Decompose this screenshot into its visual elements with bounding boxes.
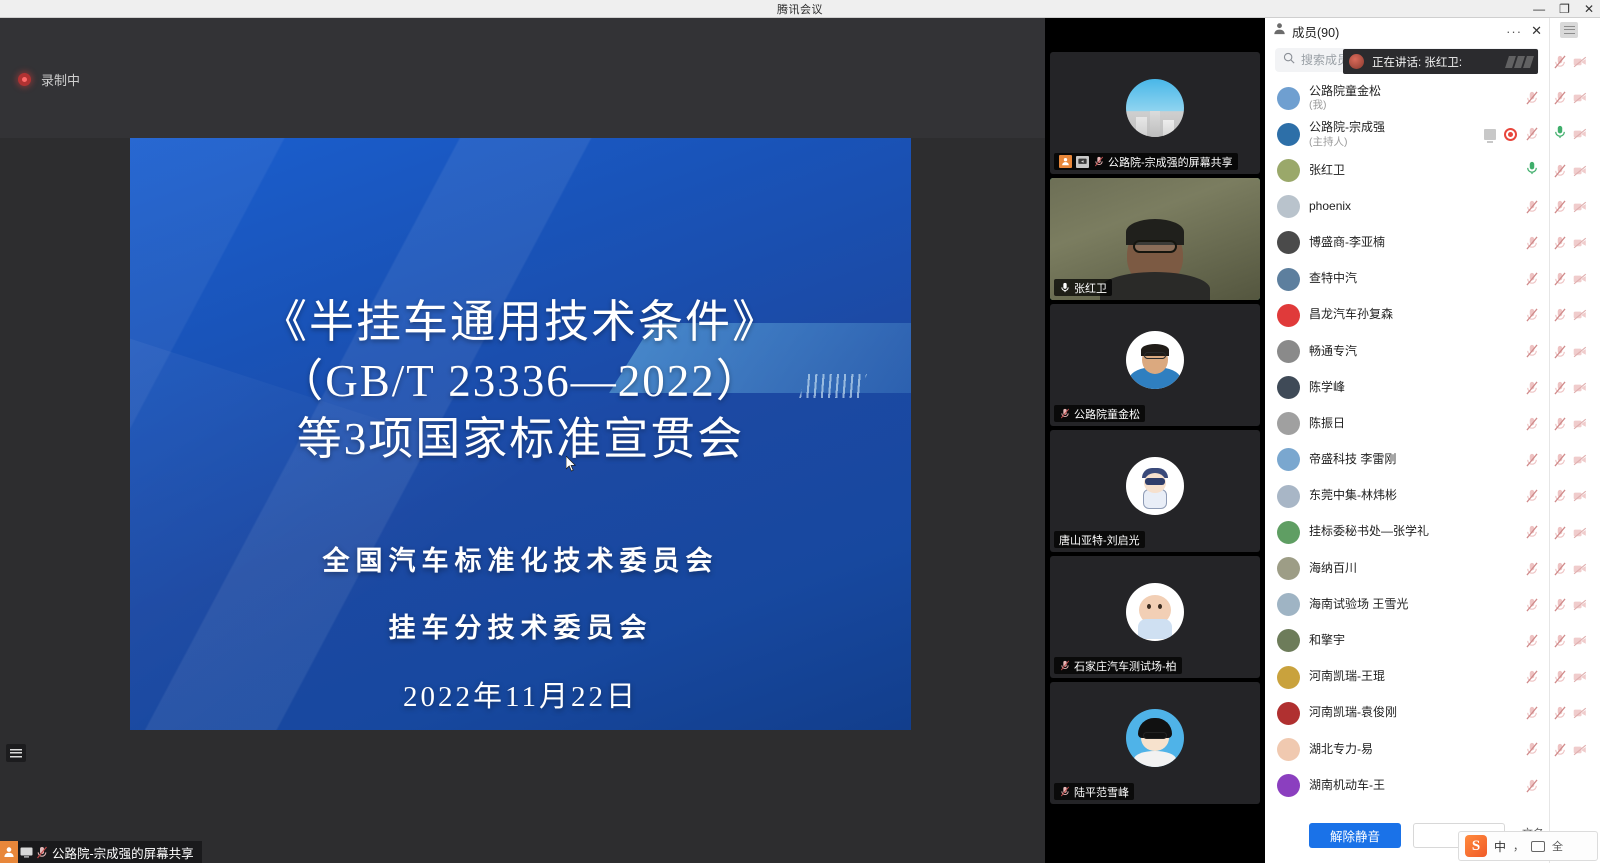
camera-off-icon[interactable] [1573, 236, 1587, 250]
mic-muted-icon[interactable] [1525, 308, 1539, 322]
participant-row[interactable]: phoenix [1265, 189, 1549, 225]
participant-icons [1525, 706, 1539, 720]
mic-muted-icon[interactable] [1525, 453, 1539, 467]
participant-icons [1525, 381, 1539, 395]
window-controls: — ❐ ✕ [1533, 0, 1594, 18]
camera-off-icon[interactable] [1573, 381, 1587, 395]
thumbnail-namebar: 唐山亚特-刘启光 [1054, 531, 1145, 548]
mic-muted-icon[interactable] [1553, 91, 1567, 105]
mic-muted-icon[interactable] [1553, 236, 1567, 250]
rail-row [1550, 189, 1600, 225]
camera-off-icon[interactable] [1573, 127, 1587, 141]
participants-list[interactable]: 公路院童金松(我)公路院-宗成强(主持人)张红卫phoenix博盛商-李亚楠查特… [1265, 78, 1549, 823]
thumbnail-tile[interactable]: 陆平范雪峰 [1050, 682, 1260, 804]
participant-icons [1525, 670, 1539, 684]
mic-muted-icon [1059, 408, 1070, 419]
participant-row[interactable]: 公路院童金松(我) [1265, 80, 1549, 116]
mic-on-icon[interactable] [1525, 161, 1539, 180]
mic-muted-icon[interactable] [1553, 345, 1567, 359]
rail-row [1550, 623, 1600, 659]
mic-muted-icon[interactable] [1553, 634, 1567, 648]
mic-muted-icon[interactable] [1553, 308, 1567, 322]
unmute-button[interactable]: 解除静音 [1309, 823, 1401, 848]
mic-muted-icon[interactable] [1525, 742, 1539, 756]
participant-name: 公路院-宗成强 [1309, 121, 1385, 135]
participant-icons [1525, 525, 1539, 539]
recording-bar [0, 18, 1045, 138]
avatar [1277, 231, 1300, 254]
slide-title-line1: 《半挂车通用技术条件》 [130, 293, 911, 352]
close-icon[interactable]: ✕ [1584, 3, 1594, 15]
thumbnail-label: 唐山亚特-刘启光 [1059, 532, 1140, 548]
participant-row[interactable]: 帝盛科技 李雷刚 [1265, 442, 1549, 478]
thumbnail-namebar: 张红卫 [1054, 279, 1112, 296]
rail-row [1550, 297, 1600, 333]
avatar [1277, 448, 1300, 471]
slide-title-line2: （GB/T 23336—2022） [130, 352, 911, 411]
mic-muted-icon[interactable] [1553, 164, 1567, 178]
avatar [1126, 457, 1184, 515]
participant-icons [1525, 634, 1539, 648]
participant-row[interactable]: 和擎宇 [1265, 623, 1549, 659]
avatar [1277, 629, 1300, 652]
thumbnail-namebar: 石家庄汽车测试场-柏 [1054, 657, 1182, 674]
participant-name: 湖南机动车-王 [1309, 779, 1385, 793]
share-user-icon [1059, 155, 1072, 168]
participant-name: 昌龙汽车孙复森 [1309, 308, 1393, 322]
participant-name: 东莞中集-林炜彬 [1309, 489, 1397, 503]
shared-slide[interactable]: 《半挂车通用技术条件》 （GB/T 23336—2022） 等3项国家标准宣贯会… [130, 138, 911, 730]
participant-icons [1525, 308, 1539, 322]
share-screen-icon [18, 841, 34, 863]
share-taskbar[interactable]: 公路院-宗成强的屏幕共享 [0, 841, 202, 863]
mic-muted-icon[interactable] [1525, 634, 1539, 648]
mic-on-icon[interactable] [1553, 125, 1567, 144]
participant-row[interactable]: 张红卫 [1265, 152, 1549, 188]
search-icon [1283, 51, 1295, 69]
speaking-notice: 正在讲话: 张红卫: [1343, 49, 1538, 74]
sogou-logo-icon: S [1465, 835, 1487, 857]
participant-icons [1525, 598, 1539, 612]
participant-name-block: 海纳百川 [1309, 562, 1357, 576]
camera-off-icon[interactable] [1573, 308, 1587, 322]
participant-role: (我) [1309, 99, 1381, 111]
camera-off-icon[interactable] [1573, 345, 1587, 359]
thumbnail-label: 公路院-宗成强的屏幕共享 [1108, 154, 1233, 170]
mic-muted-icon[interactable] [1525, 562, 1539, 576]
participant-row[interactable]: 查特中汽 [1265, 261, 1549, 297]
participant-row[interactable]: 公路院-宗成强(主持人) [1265, 116, 1549, 152]
participant-icons [1525, 272, 1539, 286]
thumbnail-namebar: 陆平范雪峰 [1054, 783, 1134, 800]
rail-row [1550, 406, 1600, 442]
mic-muted-icon[interactable] [1553, 670, 1567, 684]
more-options-icon[interactable]: ··· [1506, 24, 1522, 39]
screen-share-icon [1076, 156, 1089, 168]
rail-row [1550, 695, 1600, 731]
mic-muted-icon[interactable] [1553, 417, 1567, 431]
mic-muted-icon[interactable] [1525, 598, 1539, 612]
participant-icons [1525, 417, 1539, 431]
participant-row[interactable]: 畅通专汽 [1265, 333, 1549, 369]
avatar [1277, 123, 1300, 146]
avatar [1277, 521, 1300, 544]
rail-row [1550, 334, 1600, 370]
camera-off-icon[interactable] [1573, 706, 1587, 720]
slide-subtitle-line2: 挂车分技术委员会 [130, 606, 911, 645]
rail-row [1550, 478, 1600, 514]
recording-label: 录制中 [41, 70, 80, 89]
participant-row[interactable]: 陈学峰 [1265, 370, 1549, 406]
participant-row[interactable]: 海南试验场 王雪光 [1265, 587, 1549, 623]
camera-off-icon[interactable] [1573, 453, 1587, 467]
mic-muted-icon[interactable] [1553, 272, 1567, 286]
participant-name: 海纳百川 [1309, 562, 1357, 576]
participant-name: 海南试验场 王雪光 [1309, 598, 1408, 612]
rail-row [1550, 80, 1600, 116]
participant-row[interactable]: 湖北专力-易 [1265, 731, 1549, 767]
avatar [1277, 702, 1300, 725]
participant-row[interactable]: 海纳百川 [1265, 550, 1549, 586]
mic-muted-icon[interactable] [1525, 670, 1539, 684]
participant-icons [1525, 344, 1539, 358]
meeting-stage: 录制中 《半挂车通用技术条件》 （GB/T 23336—2022） 等3项国家标… [0, 18, 1045, 863]
thumbnail-tile[interactable]: 唐山亚特-刘启光 [1050, 430, 1260, 552]
rail-row [1550, 551, 1600, 587]
slide-content: 《半挂车通用技术条件》 （GB/T 23336—2022） 等3项国家标准宣贯会… [130, 138, 911, 715]
participant-role: (主持人) [1309, 136, 1385, 148]
thumbnail-label: 公路院童金松 [1074, 406, 1140, 422]
avatar [1126, 709, 1184, 767]
mic-muted-icon[interactable] [1525, 381, 1539, 395]
participant-name-block: 东莞中集-林炜彬 [1309, 489, 1397, 503]
avatar [1126, 79, 1184, 137]
participant-name-block: 畅通专汽 [1309, 345, 1357, 359]
participant-name: 查特中汽 [1309, 272, 1357, 286]
avatar [1277, 304, 1300, 327]
camera-off-icon[interactable] [1573, 634, 1587, 648]
mic-muted-icon[interactable] [1553, 706, 1567, 720]
mic-muted-icon[interactable] [1525, 779, 1539, 793]
camera-off-icon[interactable] [1573, 164, 1587, 178]
rail-row [1550, 370, 1600, 406]
participant-name: 陈振日 [1309, 417, 1345, 431]
rail-row [1550, 587, 1600, 623]
participant-name-block: 挂标委秘书处—张学礼 [1309, 525, 1429, 539]
camera-off-icon[interactable] [1573, 417, 1587, 431]
panel-close-icon[interactable]: ✕ [1531, 23, 1542, 39]
recording-indicator: 录制中 [18, 70, 80, 89]
mic-muted-icon[interactable] [1525, 489, 1539, 503]
participant-icons [1484, 127, 1539, 141]
mic-muted-icon[interactable] [1525, 344, 1539, 358]
participant-name-block: 昌龙汽车孙复森 [1309, 308, 1393, 322]
participant-icons [1525, 779, 1539, 793]
participant-row[interactable]: 湖南机动车-王 [1265, 768, 1549, 804]
avatar [1126, 583, 1184, 641]
thumbnail-tile[interactable]: 张红卫 [1050, 178, 1260, 300]
participant-row[interactable]: 东莞中集-林炜彬 [1265, 478, 1549, 514]
mic-muted-icon[interactable] [1525, 525, 1539, 539]
camera-off-icon[interactable] [1573, 670, 1587, 684]
participant-icons [1525, 161, 1539, 180]
speaker-avatar [1349, 54, 1364, 69]
participant-name: 博盛商-李亚楠 [1309, 236, 1385, 250]
thumbnail-label: 陆平范雪峰 [1074, 784, 1129, 800]
mic-on-icon [1059, 282, 1070, 293]
slide-list-toggle-button[interactable] [6, 744, 26, 762]
window-titlebar: 腾讯会议 — ❐ ✕ [0, 0, 1600, 18]
camera-off-icon[interactable] [1573, 526, 1587, 540]
participant-name-block: 河南凯瑞-袁俊刚 [1309, 706, 1397, 720]
thumbnail-tile[interactable]: 公路院童金松 [1050, 304, 1260, 426]
camera-off-icon[interactable] [1573, 272, 1587, 286]
camera-off-icon[interactable] [1573, 200, 1587, 214]
thumbnail-tile[interactable]: 公路院-宗成强的屏幕共享 [1050, 52, 1260, 174]
participant-name: 公路院童金松 [1309, 85, 1381, 99]
participant-row[interactable]: 挂标委秘书处—张学礼 [1265, 514, 1549, 550]
participant-name-block: 海南试验场 王雪光 [1309, 598, 1408, 612]
participant-name-block: 帝盛科技 李雷刚 [1309, 453, 1396, 467]
thumbnail-label: 石家庄汽车测试场-柏 [1074, 658, 1177, 674]
panel-header-actions: ··· ✕ [1506, 18, 1542, 44]
rail-icon-column [1550, 44, 1600, 768]
participant-icons [1525, 489, 1539, 503]
camera-off-icon[interactable] [1573, 743, 1587, 757]
mic-muted-icon [1059, 786, 1070, 797]
rail-row [1550, 153, 1600, 189]
record-dot-icon [18, 73, 31, 86]
participant-name: 帝盛科技 李雷刚 [1309, 453, 1396, 467]
participant-row[interactable]: 博盛商-李亚楠 [1265, 225, 1549, 261]
ime-extra-icon[interactable]: 全 [1552, 838, 1563, 854]
avatar [1277, 774, 1300, 797]
participant-name-block: 湖北专力-易 [1309, 743, 1373, 757]
avatar [1277, 557, 1300, 580]
participant-name: 畅通专汽 [1309, 345, 1357, 359]
ime-mode-label[interactable]: 中 [1494, 838, 1506, 855]
participant-name-block: 张红卫 [1309, 164, 1345, 178]
mouse-cursor-icon [566, 456, 576, 472]
slide-title-line3: 等3项国家标准宣贯会 [130, 410, 911, 469]
camera-off-icon[interactable] [1573, 598, 1587, 612]
members-icon [1273, 22, 1286, 40]
avatar [1277, 195, 1300, 218]
participant-name-block: phoenix [1309, 200, 1351, 214]
participant-name-block: 陈振日 [1309, 417, 1345, 431]
participant-name: 挂标委秘书处—张学礼 [1309, 525, 1429, 539]
participant-row[interactable]: 昌龙汽车孙复森 [1265, 297, 1549, 333]
recording-icon [1504, 128, 1517, 141]
mic-muted-icon[interactable] [1553, 200, 1567, 214]
window-title: 腾讯会议 [777, 1, 823, 17]
minimize-icon[interactable]: — [1533, 3, 1545, 15]
tencent-meeting-window: 腾讯会议 — ❐ ✕ 录制中 《半挂车通用技术条件》 （GB/T 23336—2… [0, 0, 1600, 863]
rail-row [1550, 442, 1600, 478]
share-user-icon [0, 841, 18, 863]
participant-row[interactable]: 河南凯瑞-王琨 [1265, 659, 1549, 695]
mic-muted-icon[interactable] [1525, 417, 1539, 431]
participant-icons [1525, 453, 1539, 467]
participant-name-block: 查特中汽 [1309, 272, 1357, 286]
participant-name-block: 湖南机动车-王 [1309, 779, 1385, 793]
mic-muted-icon[interactable] [1553, 381, 1567, 395]
avatar [1277, 593, 1300, 616]
participant-name: 湖北专力-易 [1309, 743, 1373, 757]
mic-muted-icon[interactable] [1553, 453, 1567, 467]
mic-muted-icon [1059, 660, 1070, 671]
rail-row [1550, 659, 1600, 695]
participant-name-block: 博盛商-李亚楠 [1309, 236, 1385, 250]
mic-muted-icon [1093, 156, 1104, 167]
participant-icons [1525, 742, 1539, 756]
participants-title: 成员(90) [1292, 22, 1339, 41]
rail-row [1550, 116, 1600, 152]
mic-muted-icon[interactable] [1553, 562, 1567, 576]
maximize-icon[interactable]: ❐ [1559, 3, 1570, 15]
participants-panel: 成员(90) ··· ✕ 正在讲话: 张红卫: 公路院童金松(我)公路院-宗成强… [1265, 18, 1549, 863]
thumbnail-label: 张红卫 [1074, 280, 1107, 296]
participant-name: 陈学峰 [1309, 381, 1345, 395]
participant-name-block: 公路院-宗成强(主持人) [1309, 121, 1385, 148]
right-rail [1549, 18, 1600, 863]
mic-muted-icon[interactable] [1525, 127, 1539, 141]
camera-off-icon[interactable] [1573, 91, 1587, 105]
speaking-notice-label: 正在讲话: 张红卫: [1372, 54, 1462, 70]
avatar [1277, 340, 1300, 363]
mic-muted-icon[interactable] [1553, 743, 1567, 757]
avatar [1277, 268, 1300, 291]
rail-row [1550, 732, 1600, 768]
mic-muted-icon[interactable] [1553, 598, 1567, 612]
share-mic-muted-icon [34, 841, 50, 863]
avatar [1277, 87, 1300, 110]
avatar [1277, 666, 1300, 689]
rail-row [1550, 261, 1600, 297]
thumbnail-namebar: 公路院童金松 [1054, 405, 1145, 422]
participant-row[interactable]: 河南凯瑞-袁俊刚 [1265, 695, 1549, 731]
mic-muted-icon[interactable] [1525, 272, 1539, 286]
ime-keyboard-icon[interactable] [1531, 841, 1545, 852]
ime-punctuation-icon[interactable]: ， [1513, 838, 1524, 854]
camera-off-icon[interactable] [1573, 489, 1587, 503]
avatar [1277, 738, 1300, 761]
avatar [1277, 485, 1300, 508]
avatar [1277, 412, 1300, 435]
participant-icons [1525, 91, 1539, 105]
mic-muted-icon[interactable] [1525, 706, 1539, 720]
participant-icons [1525, 236, 1539, 250]
participant-name-block: 河南凯瑞-王琨 [1309, 670, 1385, 684]
avatar [1277, 376, 1300, 399]
mic-muted-icon[interactable] [1553, 526, 1567, 540]
mic-muted-icon[interactable] [1525, 200, 1539, 214]
thumbnail-tile[interactable]: 石家庄汽车测试场-柏 [1050, 556, 1260, 678]
participant-name: 河南凯瑞-王琨 [1309, 670, 1385, 684]
rail-row [1550, 225, 1600, 261]
video-thumbnail-strip[interactable]: 公路院-宗成强的屏幕共享 张红卫 公路院童金松 [1045, 18, 1265, 863]
camera-off-icon[interactable] [1573, 55, 1587, 69]
screen-share-icon [1484, 129, 1496, 140]
participant-name-block: 公路院童金松(我) [1309, 85, 1381, 112]
audio-level-icon [1507, 56, 1532, 68]
participant-name: 和擎宇 [1309, 634, 1345, 648]
camera-off-icon[interactable] [1573, 562, 1587, 576]
mic-muted-icon[interactable] [1525, 236, 1539, 250]
slide-subtitle-line1: 全国汽车标准化技术委员会 [130, 539, 911, 578]
share-taskbar-label: 公路院-宗成强的屏幕共享 [52, 843, 194, 862]
panel-grip-icon[interactable] [1560, 22, 1578, 38]
participant-row[interactable]: 陈振日 [1265, 406, 1549, 442]
participant-name-block: 陈学峰 [1309, 381, 1345, 395]
rail-row [1550, 514, 1600, 550]
slide-date: 2022年11月22日 [130, 673, 911, 715]
participant-name: 河南凯瑞-袁俊刚 [1309, 706, 1397, 720]
participant-icons [1525, 200, 1539, 214]
rail-row [1550, 44, 1600, 80]
participant-name: 张红卫 [1309, 164, 1345, 178]
avatar [1126, 331, 1184, 389]
participant-name-block: 和擎宇 [1309, 634, 1345, 648]
thumbnail-namebar: 公路院-宗成强的屏幕共享 [1054, 153, 1238, 170]
mic-muted-icon[interactable] [1525, 91, 1539, 105]
sogou-ime-bar[interactable]: S 中 ， 全 [1458, 831, 1598, 861]
avatar [1277, 159, 1300, 182]
mic-muted-icon[interactable] [1553, 55, 1567, 69]
participant-icons [1525, 562, 1539, 576]
participants-header: 成员(90) ··· ✕ [1265, 18, 1549, 44]
participant-name: phoenix [1309, 200, 1351, 214]
mic-muted-icon[interactable] [1553, 489, 1567, 503]
